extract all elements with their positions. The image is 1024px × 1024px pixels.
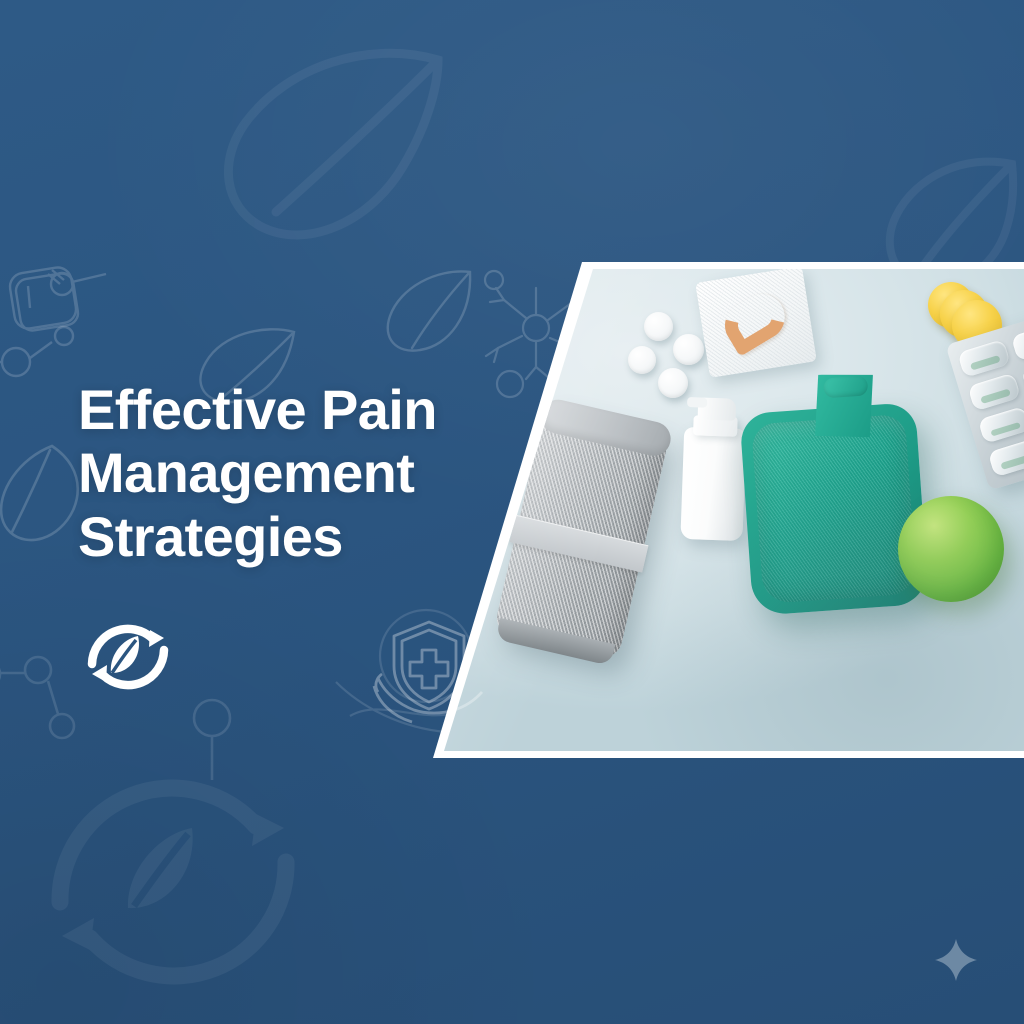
adhesive-patch-on-gauze <box>695 266 817 378</box>
magnifier-outline-icon <box>176 690 286 820</box>
four-point-star-sparkle-icon <box>934 938 978 982</box>
hand-holding-shield-with-medical-cross-icon <box>368 612 490 728</box>
white-spray-bottle <box>680 389 747 541</box>
teal-hot-water-bottle <box>737 368 929 616</box>
adhesive-patch <box>716 285 793 356</box>
rolled-grey-towel <box>493 401 671 662</box>
page-title: Effective Pain Management Strategies <box>78 378 508 568</box>
bandage-patch-outline-icon <box>2 256 122 360</box>
white-pill <box>628 346 656 374</box>
white-pill <box>644 312 673 341</box>
recycle-leaf-logo-icon <box>78 610 178 702</box>
page-title-line-1: Effective Pain <box>78 378 508 441</box>
page-title-line-2: Management <box>78 441 508 504</box>
green-stress-ball <box>898 496 1004 602</box>
leaf-outline-icon <box>374 266 484 366</box>
white-pill <box>673 334 704 365</box>
page-title-line-3: Strategies <box>78 505 508 568</box>
recycle-leaf-logo-icon <box>20 752 330 982</box>
poster-canvas: Effective Pain Management Strategies <box>0 0 1024 1024</box>
leaf-outline-icon <box>198 42 458 252</box>
white-pill <box>658 368 688 398</box>
